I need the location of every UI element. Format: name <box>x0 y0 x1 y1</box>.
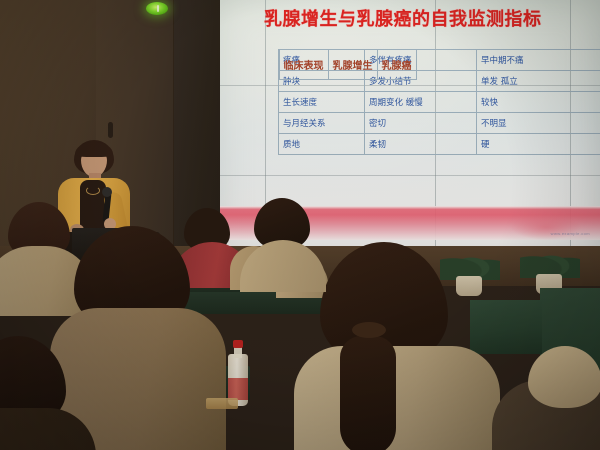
slide-comparison-table: 临床表现 乳腺增生 乳腺癌 疼痛 多伴有疼痛 早中期不痛 肿块 多发小结节 单发… <box>278 49 600 155</box>
table-row: 生长速度 周期变化 缓慢 较快 <box>279 92 600 113</box>
table-cell: 周期变化 缓慢 <box>365 92 477 113</box>
snack-item <box>206 398 238 409</box>
table-cell: 与月经关系 <box>279 113 365 134</box>
slide-title: 乳腺增生与乳腺癌的自我监测指标 <box>264 5 600 31</box>
table-cell: 生长速度 <box>279 92 365 113</box>
door-handle <box>108 122 113 138</box>
table-header-cell: 乳腺癌 <box>377 50 416 80</box>
table-cell: 较快 <box>477 92 600 113</box>
attendee-ponytail <box>340 336 396 450</box>
bottle-cap <box>233 340 243 348</box>
attendee-head <box>528 346 600 408</box>
table-header-cell: 临床表现 <box>279 50 328 80</box>
table-header-cell: 乳腺增生 <box>328 50 377 80</box>
exit-sign-icon <box>146 2 168 15</box>
table-cell: 单发 孤立 <box>477 71 600 92</box>
lecture-photo-scene: 乳腺增生与乳腺癌的自我监测指标 临床表现 乳腺增生 乳腺癌 疼痛 多伴有疼痛 早… <box>0 0 600 450</box>
attendee-shoulders <box>294 346 500 450</box>
table-cell: 不明显 <box>477 113 600 134</box>
water-bottle <box>228 340 248 406</box>
table-cell: 密切 <box>365 113 477 134</box>
table-header-row: 临床表现 乳腺增生 乳腺癌 <box>279 49 417 80</box>
table-cell: 早中期不痛 <box>477 50 600 71</box>
table-row: 与月经关系 密切 不明显 <box>279 113 600 134</box>
bottle-label <box>228 378 248 400</box>
audience <box>0 150 600 450</box>
hair-tie <box>352 322 386 338</box>
